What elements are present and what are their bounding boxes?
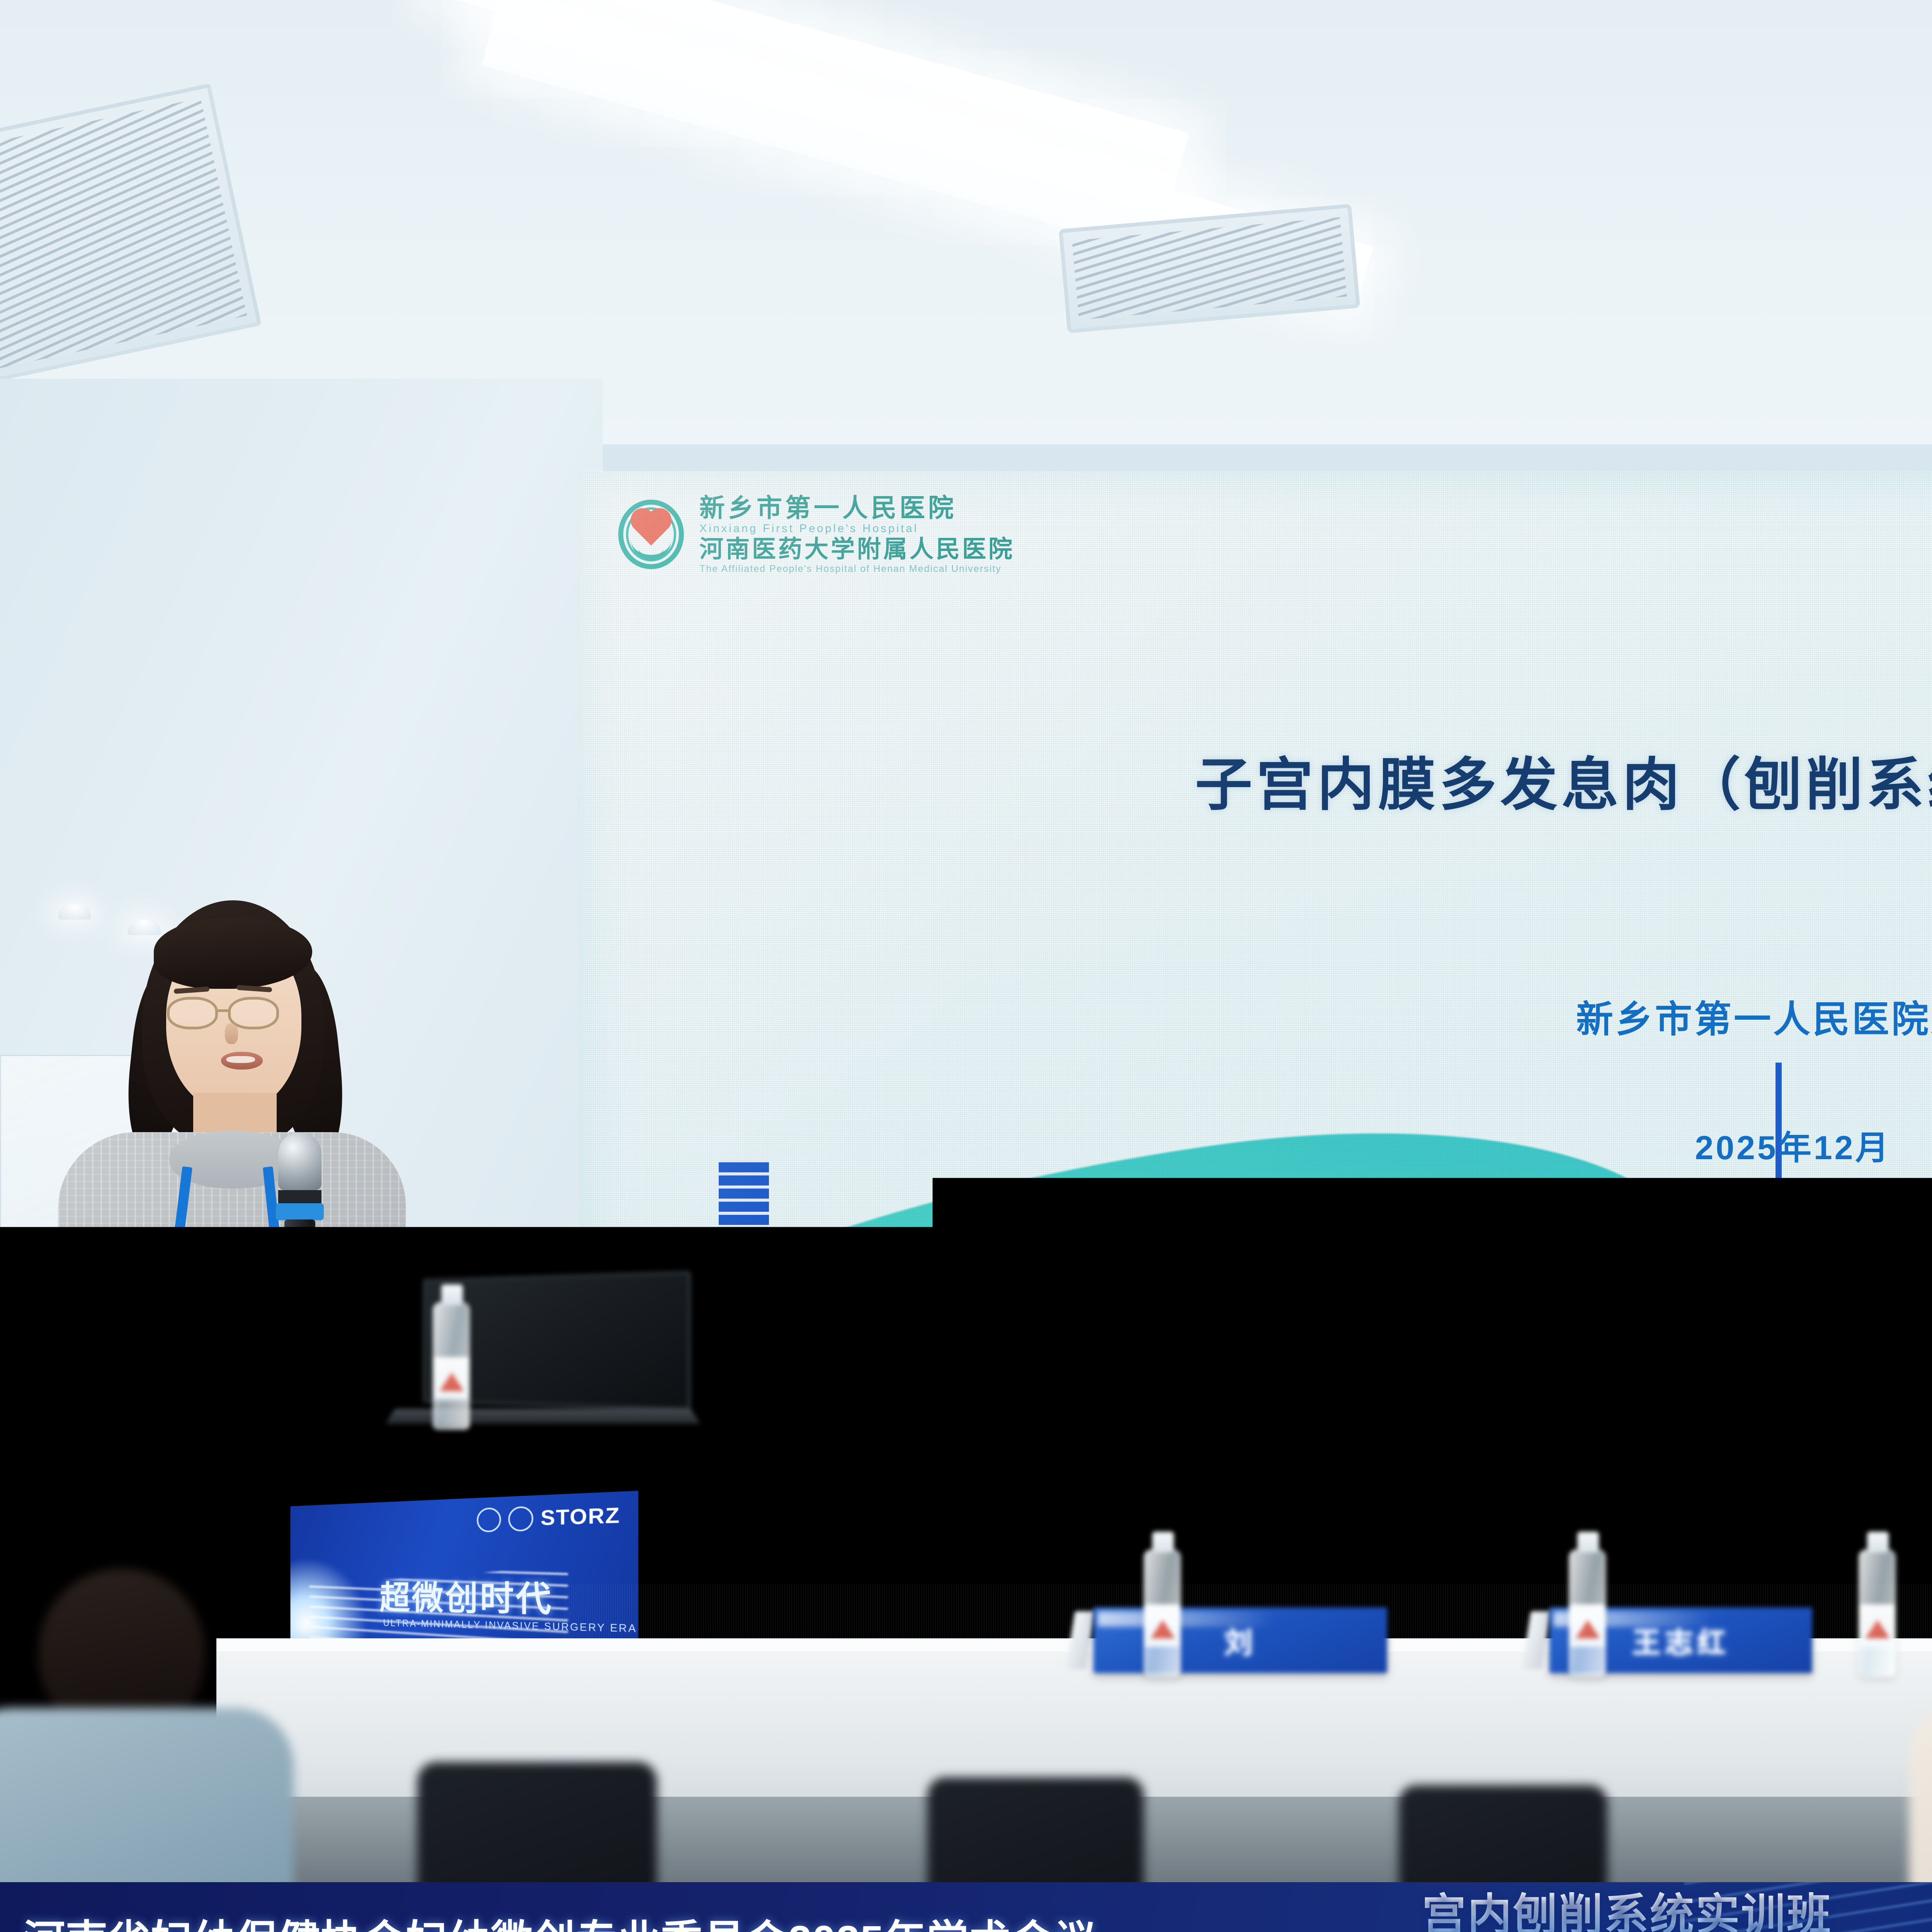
audience-member xyxy=(0,1569,270,1932)
water-bottle xyxy=(1859,1549,1896,1677)
banner-center-block: 宫内刨削系统实训班 河南·郑州｜2025.12.27 xyxy=(1422,1891,1832,1932)
pagoda-silhouette xyxy=(1886,1306,1932,1468)
slide-cityscape-artwork xyxy=(580,997,1932,1584)
hospital-affiliate-en: The Affiliated People's Hospital of Hena… xyxy=(699,564,1015,575)
nameplate-0: 刘 xyxy=(1094,1607,1387,1673)
presentation-screen: 新乡市第一人民医院 Xinxiang First People's Hospit… xyxy=(580,471,1932,1584)
eyeglasses-icon xyxy=(167,997,218,1029)
slide-hospital-logo: 新乡市第一人民医院 Xinxiang First People's Hospit… xyxy=(618,495,1015,575)
hill-silhouette xyxy=(1132,1410,1229,1492)
podium-display-title: 超微创时代 xyxy=(379,1570,553,1621)
hospital-name-en: Xinxiang First People's Hospital xyxy=(699,523,1015,535)
heart-in-hands-icon xyxy=(618,500,684,569)
event-banner: 河南省妇幼保健协会妇幼微创专业委员会2025年学术会议 宫内刨削系统实训班 河南… xyxy=(0,1882,1932,1932)
circle-logo-icon xyxy=(508,1506,533,1532)
screenshot-root: 河南省妇幼保健协会 Henan Province Maternal and Ch… xyxy=(0,0,1932,1932)
water-bottle xyxy=(433,1302,470,1430)
hospital-name-cn: 新乡市第一人民医院 xyxy=(699,495,1015,522)
sponsor-logo-group: STORZ xyxy=(477,1503,621,1533)
water-bottle xyxy=(1569,1549,1606,1677)
banner-conference-title: 河南省妇幼保健协会妇幼微创专业委员会2025年学术会议 xyxy=(23,1907,1097,1932)
air-conditioning-vent xyxy=(0,83,262,396)
hospital-affiliate-cn: 河南医药大学附属人民医院 xyxy=(699,536,1015,563)
slide-date: 2025年12月 xyxy=(580,1121,1932,1169)
slide-subtitle: 新乡市第一人民医院妇科 xyxy=(580,989,1932,1043)
flower-logo-icon xyxy=(477,1507,501,1532)
banner-course-title: 宫内刨削系统实训班 xyxy=(1422,1891,1832,1932)
water-bottle xyxy=(1144,1549,1181,1677)
slide-title: 子宫内膜多发息肉（刨削系统切除）病例1例 xyxy=(580,738,1932,821)
audience-member xyxy=(1924,1538,1932,1932)
sponsor-name: STORZ xyxy=(541,1503,620,1531)
